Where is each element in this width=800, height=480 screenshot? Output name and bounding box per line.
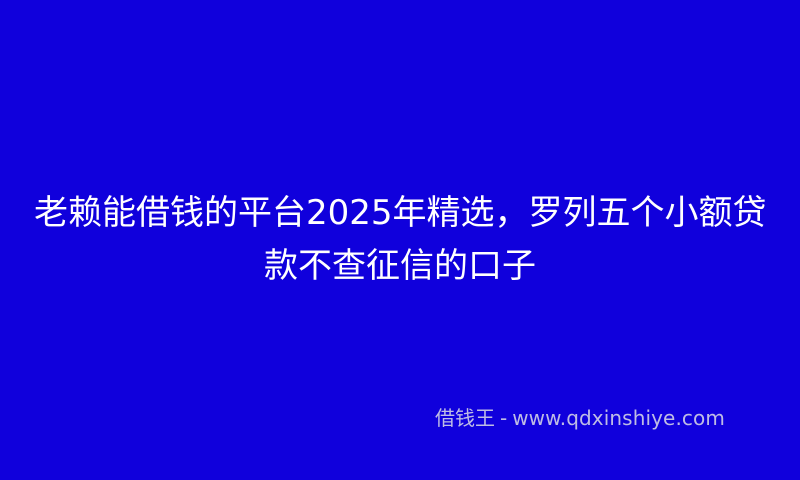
cover-canvas: 老赖能借钱的平台2025年精选，罗列五个小额贷 款不查征信的口子 借钱王 - w… xyxy=(0,0,800,480)
headline-line-1: 老赖能借钱的平台2025年精选，罗列五个小额贷 xyxy=(34,187,766,240)
watermark: 借钱王 - www.qdxinshiye.com xyxy=(435,406,725,430)
watermark-brand: 借钱王 xyxy=(435,406,495,430)
watermark-separator: - xyxy=(495,406,512,430)
watermark-url: www.qdxinshiye.com xyxy=(512,406,725,430)
headline-line-2: 款不查征信的口子 xyxy=(34,240,766,293)
